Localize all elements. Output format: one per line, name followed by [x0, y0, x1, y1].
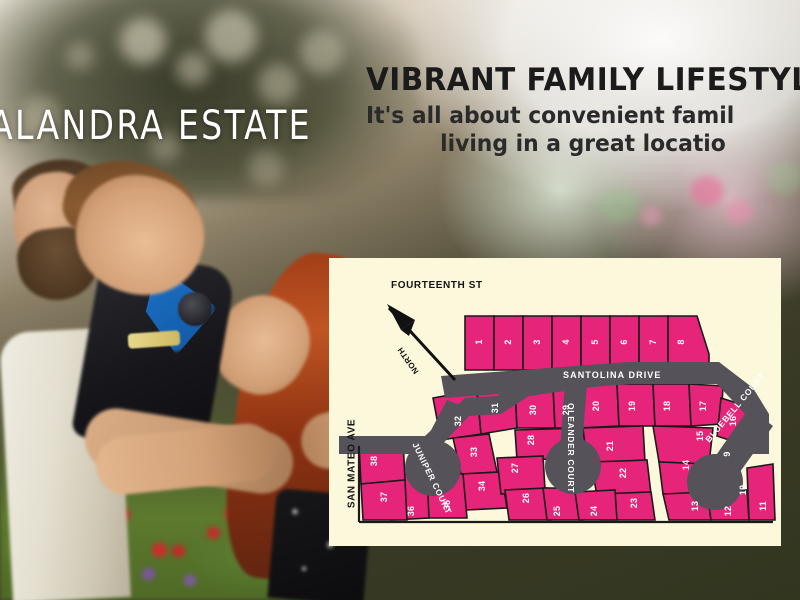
street-label-san-mateo-ave: SAN MATEO AVE	[347, 409, 358, 519]
blossom-pink	[690, 176, 724, 206]
marketing-flyer: ALANDRA ESTATE VIBRANT FAMILY LIFESTYL I…	[0, 0, 800, 600]
cul-de-sac-oleander	[545, 438, 601, 494]
estate-site-plan[interactable]: .lot { fill: #E6257A; stroke: #1A1A1A; s…	[329, 258, 781, 546]
lot-block-north	[465, 316, 709, 370]
street-label-fourteenth-st: FOURTEENTH ST	[391, 280, 483, 291]
flower-red	[172, 545, 185, 557]
blossom-green	[600, 188, 640, 222]
cul-de-sac-bluebell	[687, 454, 743, 510]
blossom-pink	[726, 200, 752, 224]
site-plan-graphic: .lot { fill: #E6257A; stroke: #1A1A1A; s…	[329, 258, 781, 546]
headline-block: VIBRANT FAMILY LIFESTYL It's all about c…	[366, 64, 800, 158]
flower-purple	[184, 575, 196, 586]
flower-red	[207, 527, 220, 539]
headline-secondary-line2: living in a great locatio	[366, 130, 800, 158]
blossom-pink	[640, 206, 662, 226]
headline-primary: VIBRANT FAMILY LIFESTYL	[366, 64, 800, 97]
headline-secondary-line1: It's all about convenient famil	[366, 103, 734, 129]
blossom-green	[768, 162, 800, 196]
wristwatch	[178, 292, 212, 326]
estate-title: ALANDRA ESTATE	[0, 103, 312, 149]
flower-red	[152, 543, 167, 557]
north-arrow-icon	[387, 304, 455, 380]
flower-purple	[142, 568, 155, 580]
headline-secondary: It's all about convenient famil living i…	[366, 102, 800, 158]
cul-de-sac-juniper	[405, 440, 461, 496]
